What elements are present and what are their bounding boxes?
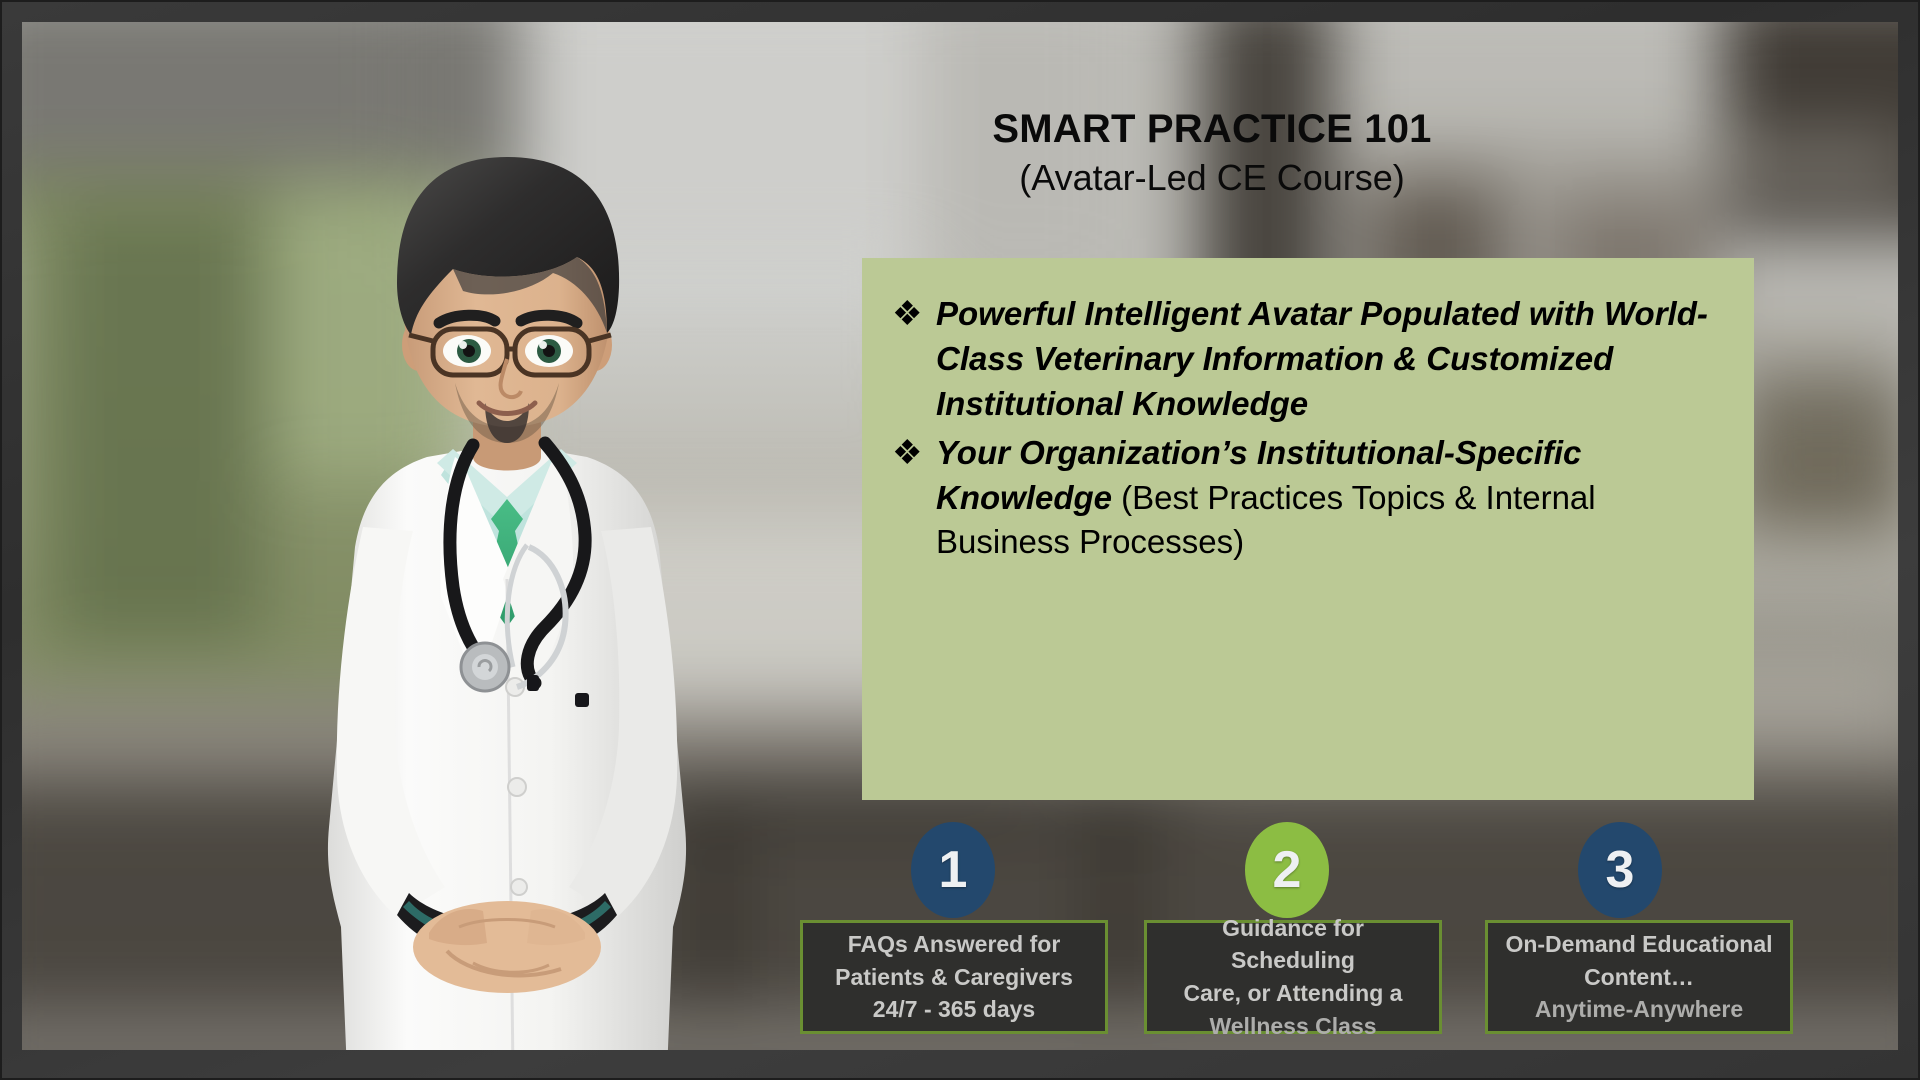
caption-line: On-Demand Educational (1505, 928, 1772, 961)
step-badge-3: 3 (1578, 822, 1662, 918)
bullet-text: Your Organization’s Institutional-Specif… (936, 431, 1726, 566)
page-subtitle: (Avatar-Led CE Course) (902, 158, 1522, 198)
caption-line: FAQs Answered for (848, 928, 1061, 961)
step-number: 2 (1273, 844, 1302, 896)
bg-cabinet (1732, 372, 1898, 532)
step-badge-2: 2 (1245, 822, 1329, 918)
bg-dark-corner (1722, 22, 1898, 232)
diamond-bullet-icon: ❖ (892, 431, 936, 476)
caption-line: 24/7 - 365 days (873, 993, 1035, 1026)
step-caption-1: FAQs Answered for Patients & Caregivers … (800, 920, 1108, 1034)
bullet-emphasis: Powerful Intelligent Avatar Populated wi… (936, 295, 1708, 422)
bg-window-shade (52, 212, 262, 642)
list-item: ❖ Your Organization’s Institutional-Spec… (892, 431, 1726, 566)
slide-stage: SMART PRACTICE 101 (Avatar-Led CE Course… (22, 22, 1898, 1050)
step-caption-3: On-Demand Educational Content… Anytime-A… (1485, 920, 1793, 1034)
list-item: ❖ Powerful Intelligent Avatar Populated … (892, 292, 1726, 427)
caption-line: Patients & Caregivers (835, 961, 1073, 994)
slide-title-block: SMART PRACTICE 101 (Avatar-Led CE Course… (902, 107, 1522, 198)
step-number: 3 (1606, 844, 1635, 896)
caption-line: Anytime-Anywhere (1535, 993, 1743, 1026)
bullet-list: ❖ Powerful Intelligent Avatar Populated … (862, 258, 1754, 565)
caption-line: Wellness Class (1209, 1010, 1376, 1043)
page-title: SMART PRACTICE 101 (902, 107, 1522, 152)
caption-line: Content… (1584, 961, 1694, 994)
avatar-veterinarian (277, 127, 737, 1050)
caption-line: Guidance for Scheduling (1157, 912, 1429, 977)
step-number: 1 (939, 844, 968, 896)
caption-line: Care, or Attending a (1184, 977, 1403, 1010)
step-caption-2: Guidance for Scheduling Care, or Attendi… (1144, 920, 1442, 1034)
step-badge-1: 1 (911, 822, 995, 918)
diamond-bullet-icon: ❖ (892, 292, 936, 337)
presentation-slide: SMART PRACTICE 101 (Avatar-Led CE Course… (0, 0, 1920, 1080)
key-features-panel: ❖ Powerful Intelligent Avatar Populated … (862, 258, 1754, 800)
bullet-text: Powerful Intelligent Avatar Populated wi… (936, 292, 1726, 427)
